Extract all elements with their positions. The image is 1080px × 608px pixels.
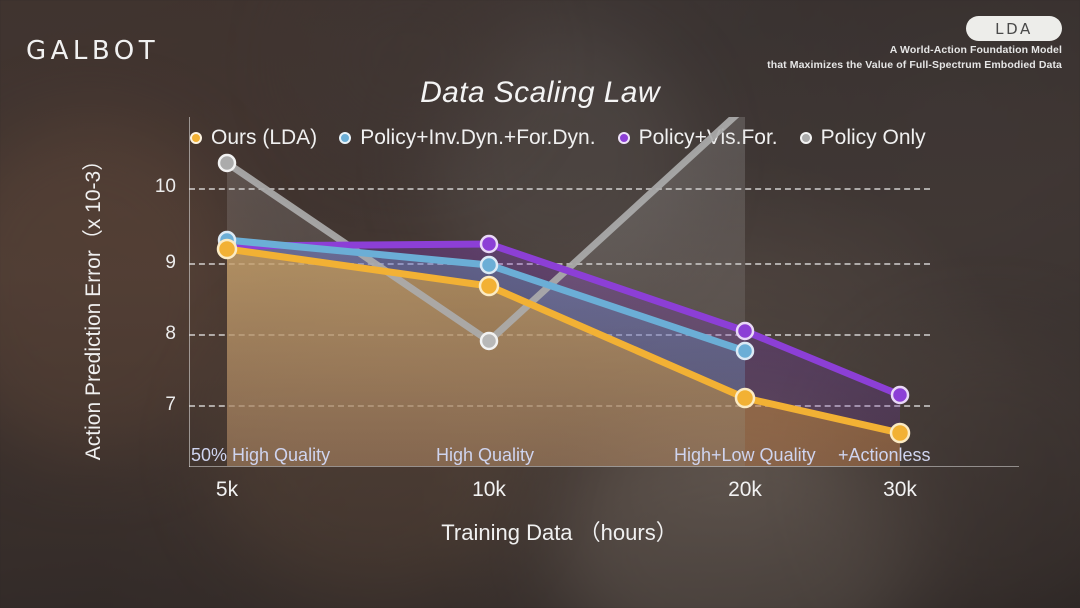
point-ours-5k: [218, 240, 236, 258]
lda-badge-label: LDA: [995, 20, 1033, 38]
plot-area: [189, 117, 930, 467]
tagline-line-2: that Maximizes the Value of Full-Spectru…: [602, 58, 1062, 73]
tagline-line-1: A World-Action Foundation Model: [602, 43, 1062, 58]
series-layer: [189, 117, 930, 467]
galbot-logo: GALBOT: [26, 36, 159, 66]
chart-title: Data Scaling Law: [0, 76, 1080, 110]
annotation-actionless: +Actionless: [838, 445, 931, 466]
point-vis-for-20k: [737, 323, 753, 339]
x-tick-30k: 30k: [840, 478, 960, 502]
y-tick-7: 7: [130, 394, 176, 416]
y-tick-9: 9: [130, 252, 176, 274]
point-ours-10k: [480, 277, 498, 295]
x-axis-title: Training Data （hours）: [189, 515, 930, 547]
x-tick-5k: 5k: [167, 478, 287, 502]
point-policy-only-10k: [481, 333, 497, 349]
annotation-high-quality: High Quality: [436, 445, 534, 466]
annotation-high-low-quality: High+Low Quality: [674, 445, 816, 466]
slide-canvas: GALBOT LDA A World-Action Foundation Mod…: [0, 0, 1080, 608]
lda-badge: LDA: [966, 16, 1062, 41]
point-policy-only-5k: [219, 155, 235, 171]
y-tick-10: 10: [130, 176, 176, 198]
annotation-50-high-quality: 50% High Quality: [191, 445, 330, 466]
y-axis-title: Action Prediction Error（x 10-3）: [77, 140, 107, 470]
point-ours-20k: [736, 389, 754, 407]
point-ours-30k: [891, 424, 909, 442]
point-inv-for-dyn-10k: [481, 257, 497, 273]
point-inv-for-dyn-20k: [737, 343, 753, 359]
tagline: A World-Action Foundation Model that Max…: [602, 43, 1062, 73]
y-tick-8: 8: [130, 323, 176, 345]
point-vis-for-30k: [892, 387, 908, 403]
x-tick-20k: 20k: [685, 478, 805, 502]
point-vis-for-10k: [481, 236, 497, 252]
x-tick-10k: 10k: [429, 478, 549, 502]
